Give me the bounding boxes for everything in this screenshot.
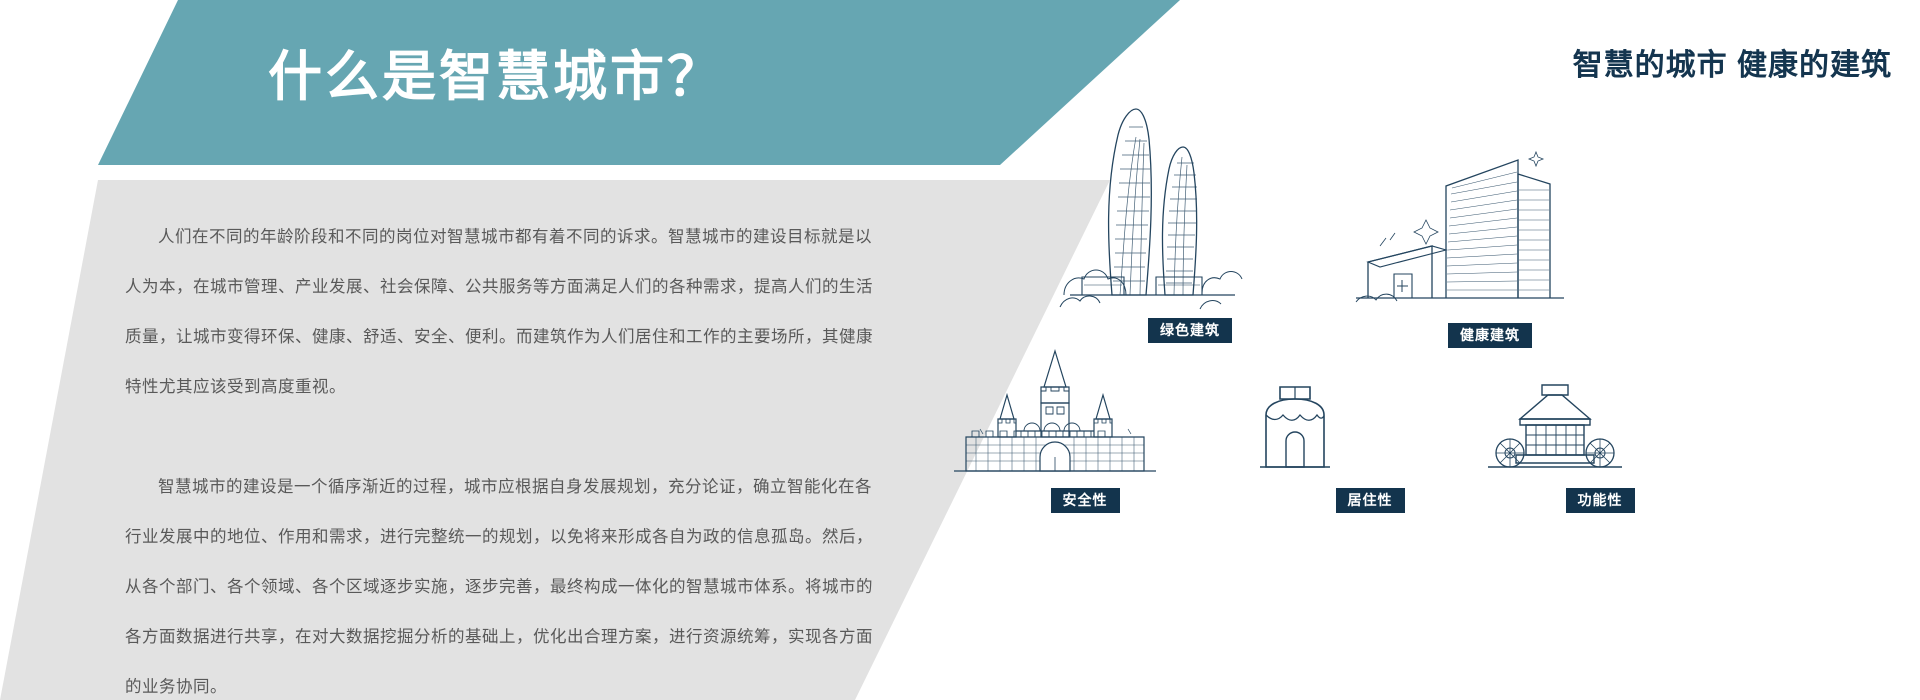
house-icon: [1250, 375, 1490, 480]
illustration-label: 绿色建筑: [1148, 318, 1232, 343]
body-copy: 人们在不同的年龄阶段和不同的岗位对智慧城市都有着不同的诉求。智慧城市的建设目标就…: [125, 212, 885, 700]
hospital-building-icon: [1350, 150, 1630, 315]
illustration-group: 绿色建筑: [1050, 95, 1900, 615]
twin-towers-icon: [1050, 95, 1330, 310]
illustration-label: 居住性: [1336, 488, 1405, 513]
castle-icon: [940, 345, 1230, 480]
illustration-health-building: 健康建筑: [1350, 150, 1630, 348]
paragraph-1: 人们在不同的年龄阶段和不同的岗位对智慧城市都有着不同的诉求。智慧城市的建设目标就…: [125, 212, 885, 412]
illustration-label: 健康建筑: [1448, 323, 1532, 348]
slide-root: 什么是智慧城市？ 智慧的城市 健康的建筑 人们在不同的年龄阶段和不同的岗位对智慧…: [0, 0, 1920, 700]
illustration-green-building: 绿色建筑: [1050, 95, 1330, 343]
page-title: 什么是智慧城市？: [268, 32, 724, 111]
illustration-functionality: 功能性: [1480, 375, 1720, 513]
illustration-label: 安全性: [1051, 488, 1120, 513]
paragraph-2: 智慧城市的建设是一个循序渐近的过程，城市应根据自身发展规划，充分论证，确立智能化…: [125, 462, 885, 700]
illustration-safety: 安全性: [940, 345, 1230, 513]
illustration-livability: 居住性: [1250, 375, 1490, 513]
illustration-label: 功能性: [1566, 488, 1635, 513]
pavilion-icon: [1480, 375, 1720, 480]
slogan-heading: 智慧的城市 健康的建筑: [1573, 40, 1892, 84]
